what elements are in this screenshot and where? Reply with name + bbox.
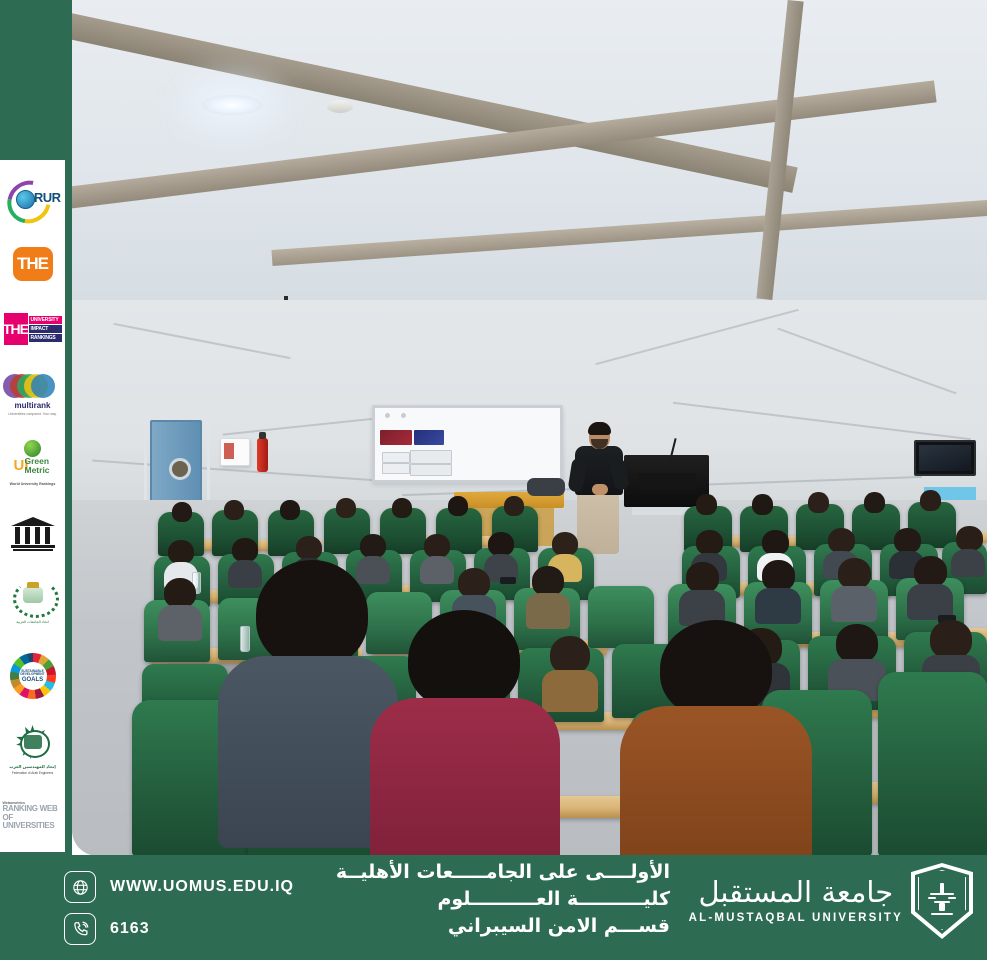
phone-icon: [64, 913, 96, 945]
tagline-line-2: كليــــــــــة العــــــــــلوم: [330, 886, 670, 913]
student: [392, 498, 412, 518]
tagline-line-1: الأولــــى على الجامـــــعات الأهليــة: [330, 859, 670, 886]
ui-greenmetric-logo: UI Green Metric World University Ranking…: [2, 426, 64, 500]
student: [360, 534, 386, 584]
footer-banner: WWW.UOMUS.EDU.IQ 6163 الأولــــى على الج…: [0, 855, 987, 960]
website-row[interactable]: WWW.UOMUS.EDU.IQ: [64, 871, 294, 903]
classical-building-icon: [11, 515, 55, 551]
wall-notice: [382, 452, 410, 463]
fire-extinguisher: [257, 438, 268, 472]
tagline-line-3: قســـم الامن السيبراني: [330, 913, 670, 940]
sdg-line-2: GOALS: [22, 677, 43, 683]
green-globe-icon: [24, 440, 41, 457]
student: [956, 526, 983, 576]
door-porthole-window: [169, 458, 191, 480]
rur-logo: RUR: [2, 166, 64, 231]
mustaqbal-shield-crest: [911, 863, 973, 939]
photo-scene: [72, 0, 987, 856]
department-arabic-text: الأولــــى على الجامـــــعات الأهليــة ك…: [330, 859, 670, 940]
student: [752, 494, 773, 515]
water-bottle: [240, 626, 250, 652]
association-of-arab-universities-logo: اتحاد الجامعات العربية: [2, 565, 64, 639]
student: [448, 496, 468, 516]
the-impact-line-3: RANKINGS: [29, 334, 62, 342]
student: [914, 556, 947, 618]
umultirank-tagline: Universities compared. Your way.: [3, 412, 63, 416]
university-name-arabic: جامعة المستقبل: [689, 878, 903, 907]
the-impact-line-1: UNIVERSITY: [29, 316, 62, 324]
wall-notice: [410, 450, 452, 464]
arab-universities-label: اتحاد الجامعات العربية: [8, 620, 58, 624]
contact-block: WWW.UOMUS.EDU.IQ 6163: [64, 871, 294, 945]
greenmetric-tagline: World University Rankings: [5, 482, 61, 486]
student: [336, 498, 356, 518]
student: [808, 492, 829, 513]
student: [550, 636, 590, 708]
webometrics-logo: Webometrics RANKING WEB OF UNIVERSITIES: [2, 787, 64, 852]
poster-canvas: RUR THE THE UNIVERSITY IMPACT RANKINGS: [0, 0, 987, 960]
webometrics-line-2: OF UNIVERSITIES: [3, 814, 63, 831]
globe-www-icon: [64, 871, 96, 903]
smoke-detector: [327, 100, 353, 113]
student: [836, 624, 878, 696]
student-foreground: [654, 620, 774, 856]
wall-mounted-television: [914, 440, 976, 476]
student: [424, 534, 450, 584]
student: [280, 500, 300, 520]
federation-english-label: Federation of Arab Engineers: [9, 771, 57, 775]
the-impact-logo-label: THE: [4, 313, 28, 345]
student: [762, 560, 795, 622]
student: [920, 490, 941, 511]
student-foreground: [402, 610, 522, 856]
federation-of-arab-engineers-logo: إتحاد المهندسين العرب Federation of Arab…: [2, 713, 64, 787]
student: [224, 500, 244, 520]
the-logo: THE: [2, 231, 64, 296]
the-impact-rankings-logo: THE UNIVERSITY IMPACT RANKINGS: [2, 296, 64, 361]
student: [686, 562, 719, 624]
university-name-english: AL-MUSTAQBAL UNIVERSITY: [689, 912, 903, 924]
student: [532, 566, 564, 628]
student: [172, 502, 192, 522]
sdg-wheel-logo: SUSTAINABLE DEVELOPMENT GOALS: [2, 639, 64, 713]
presenter-hair: [588, 422, 611, 435]
the-impact-line-2: IMPACT: [29, 325, 62, 333]
university-branding: جامعة المستقبل AL-MUSTAQBAL UNIVERSITY: [689, 863, 973, 939]
umultirank-label: multirank: [3, 401, 63, 410]
wall-poster: [380, 430, 412, 445]
presenter-legs: [577, 492, 619, 554]
wall-notice: [410, 464, 452, 476]
sdg-line-1: SUSTAINABLE DEVELOPMENT: [19, 670, 47, 677]
backpack: [527, 478, 565, 496]
rur-logo-label: RUR: [34, 190, 61, 205]
greenmetric-line-2: Metric: [25, 465, 50, 475]
student: [488, 532, 514, 582]
phone-row[interactable]: 6163: [64, 913, 294, 945]
crest-emblem: [928, 883, 956, 917]
student: [864, 492, 885, 513]
ceiling-spotlight: [202, 95, 262, 115]
website-url: WWW.UOMUS.EDU.IQ: [110, 878, 294, 896]
wall-notice: [382, 463, 410, 474]
ranking-logos-strip: RUR THE THE UNIVERSITY IMPACT RANKINGS: [0, 160, 68, 852]
umultirank-logo: multirank Universities compared. Your wa…: [2, 361, 64, 426]
classical-building-logo: [2, 500, 64, 565]
lecture-hall-photo: [72, 0, 987, 856]
fire-hose-cabinet: [220, 438, 250, 466]
student: [504, 496, 524, 516]
student: [838, 558, 871, 620]
phone-number: 6163: [110, 920, 150, 938]
student: [164, 578, 196, 640]
student: [696, 494, 717, 515]
mobile-phone: [500, 577, 516, 584]
the-logo-label: THE: [13, 247, 53, 281]
federation-arabic-label: إتحاد المهندسين العرب: [9, 764, 57, 769]
student-foreground: [252, 560, 362, 840]
presenter-hands: [592, 484, 608, 495]
wall-poster: [414, 430, 444, 445]
